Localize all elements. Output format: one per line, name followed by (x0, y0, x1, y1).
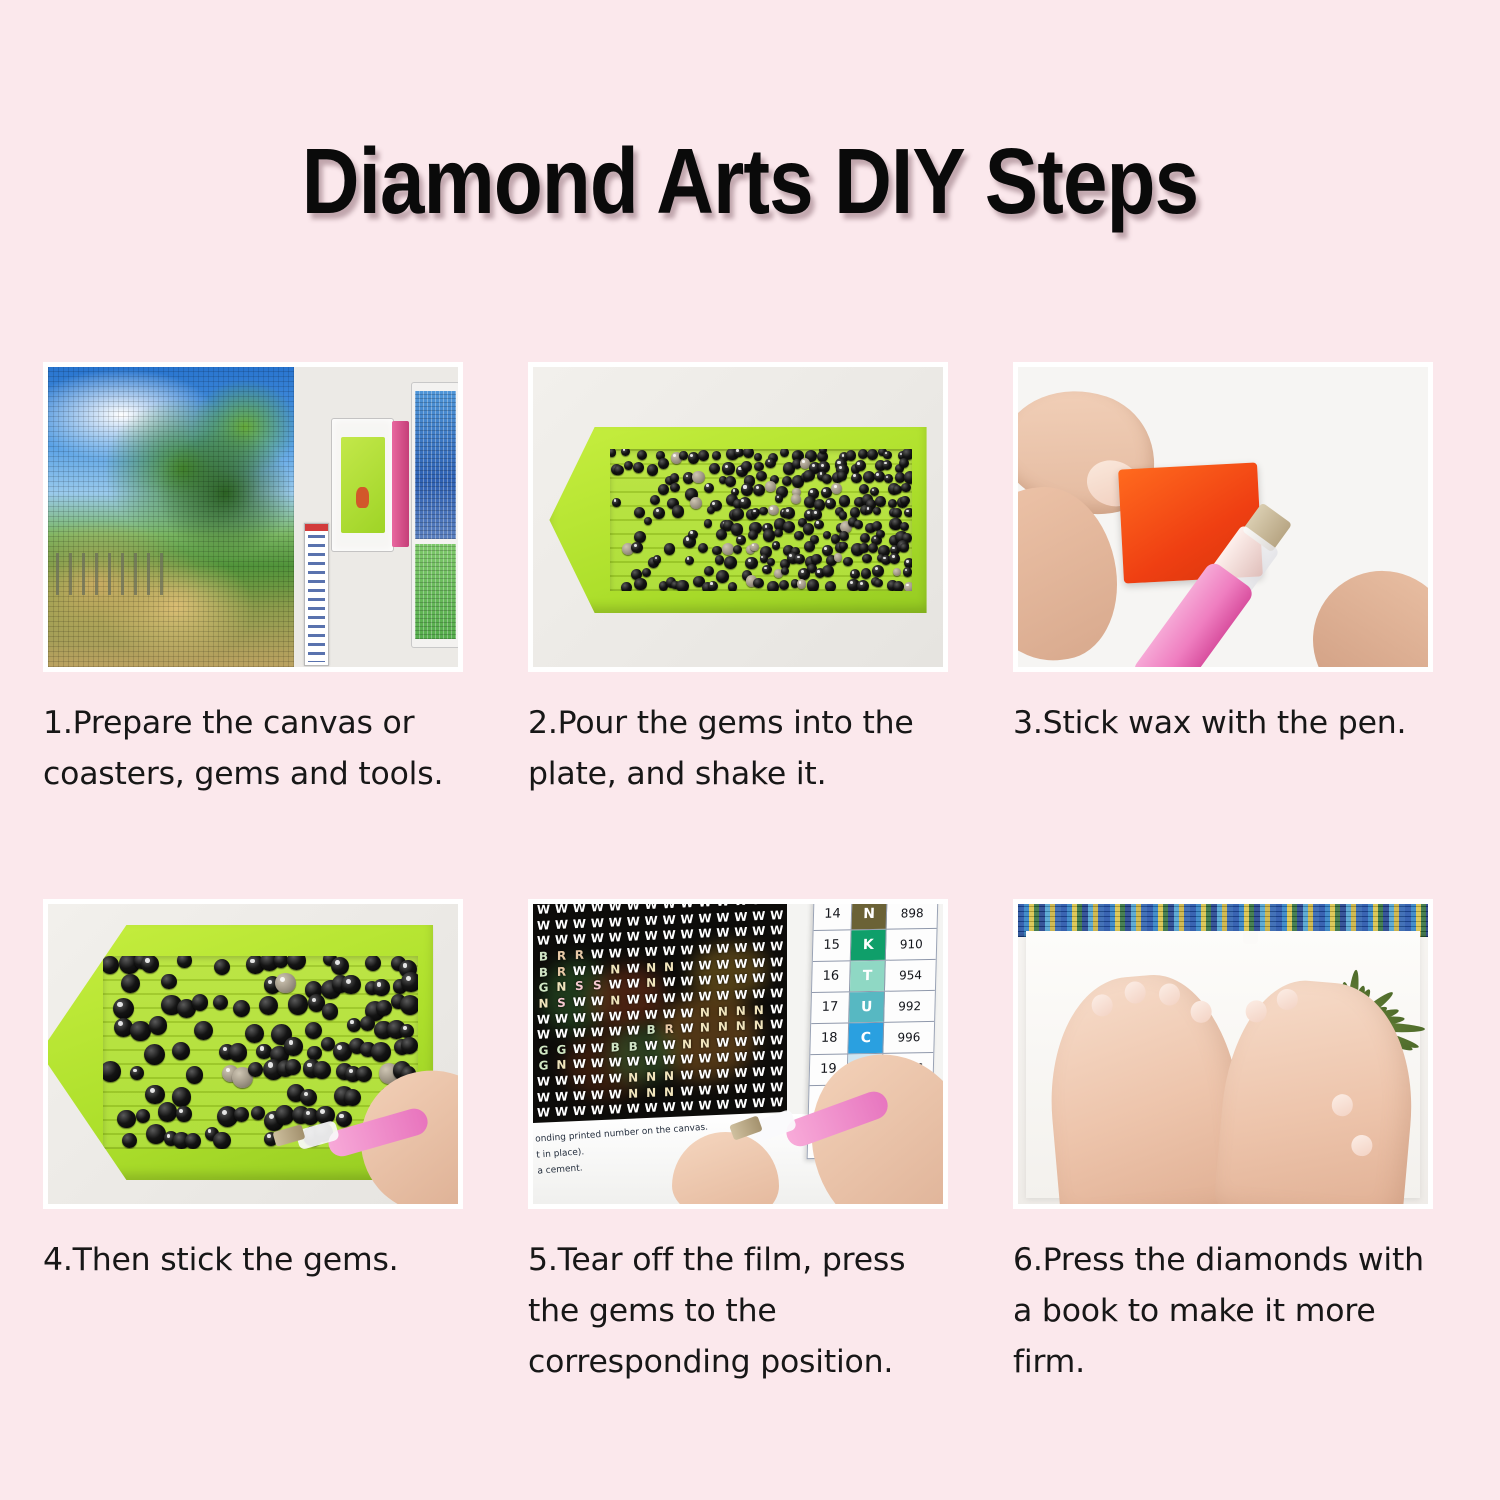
canvas-symbol: W (626, 946, 641, 962)
gem (716, 570, 729, 583)
gem (865, 506, 873, 514)
gem (854, 520, 863, 529)
gem (373, 979, 389, 995)
gem (884, 474, 893, 483)
gem (621, 449, 630, 455)
step-caption-5: 5.Tear off the film, press the gems to t… (528, 1235, 958, 1388)
canvas-symbol: W (697, 943, 712, 959)
canvas-symbol: N (626, 1071, 641, 1087)
gem (731, 523, 744, 536)
canvas-symbol: N (644, 1071, 659, 1087)
green-gem-packet (415, 544, 456, 639)
gem (670, 473, 680, 483)
ruler-strip (304, 523, 329, 666)
gem (176, 1106, 192, 1122)
gem (103, 956, 120, 974)
gem (670, 483, 680, 493)
gem (650, 495, 660, 505)
gem (791, 494, 801, 504)
canvas-symbol: W (733, 942, 748, 958)
gem (275, 973, 295, 993)
gem (664, 543, 675, 554)
gem (904, 508, 911, 518)
infographic-page: Diamond Arts DIY Steps 1.Prepare the can… (0, 0, 1500, 1500)
gem (251, 1106, 265, 1120)
step-caption-3: 3.Stick wax with the pen. (1013, 698, 1443, 749)
gem (624, 461, 633, 470)
canvas-symbol: W (769, 940, 784, 956)
legend-code: 992 (884, 991, 934, 1022)
gem (401, 1037, 418, 1054)
steps-grid: 1.Prepare the canvas or coasters, gems a… (0, 0, 1500, 1500)
legend-code: 910 (886, 929, 936, 960)
canvas-symbol: W (751, 988, 766, 1004)
gem (855, 460, 866, 471)
gem (804, 541, 815, 552)
gem (783, 521, 795, 533)
gem (782, 476, 792, 486)
canvas-symbol: W (644, 1102, 659, 1118)
canvas-symbol: W (572, 996, 587, 1012)
gem (644, 517, 653, 526)
gem (875, 496, 886, 507)
gem (794, 531, 804, 541)
gem (772, 541, 781, 550)
gem (767, 581, 779, 591)
gem (846, 450, 856, 460)
gem (288, 994, 309, 1015)
gem (658, 458, 669, 469)
gem (130, 1021, 150, 1041)
gem (679, 451, 687, 459)
gem (712, 546, 721, 555)
legend-code: 898 (887, 899, 937, 929)
step-card-1: 1.Prepare the canvas or coasters, gems a… (43, 362, 463, 800)
pen-picking-gem (286, 1084, 463, 1186)
gem (704, 566, 714, 576)
blue-gem-packet (415, 391, 456, 539)
step-card-3: 3.Stick wax with the pen. (1013, 362, 1433, 749)
gem (901, 483, 910, 492)
gem (307, 1046, 321, 1060)
gem (172, 1087, 191, 1106)
canvas-symbol: N (751, 1019, 766, 1035)
gem (762, 565, 771, 574)
legend-row: 18C996 (810, 1022, 934, 1055)
gem (194, 1021, 213, 1040)
finger-right (1300, 558, 1433, 672)
gem (839, 531, 850, 542)
gem (834, 553, 843, 562)
gem (122, 1133, 137, 1148)
gem (248, 1062, 264, 1078)
gem (371, 1042, 391, 1062)
canvas-symbol: W (572, 1074, 587, 1090)
gem (754, 462, 764, 472)
gem (172, 1042, 191, 1061)
canvas-symbol: W (715, 974, 730, 990)
gem (347, 1018, 361, 1032)
gem (756, 471, 767, 482)
gem (861, 568, 872, 579)
gem (213, 995, 228, 1010)
gem (401, 972, 417, 991)
legend-number: 14 (813, 899, 852, 930)
gem (882, 460, 892, 470)
gem (698, 543, 708, 553)
canvas-symbol: B (536, 950, 551, 966)
gem (754, 453, 762, 461)
canvas-symbol: W (662, 1101, 677, 1117)
page-side-text (1026, 1012, 1047, 1156)
canvas-symbol: W (626, 899, 641, 915)
step-card-6: 6.Press the diamonds with a book to make… (1013, 899, 1433, 1388)
gem (722, 462, 734, 474)
gem (637, 450, 647, 460)
step-caption-4: 4.Then stick the gems. (43, 1235, 473, 1286)
gem (825, 498, 836, 509)
canvas-symbol: W (733, 973, 748, 989)
gem (859, 484, 870, 495)
legend-number: 18 (810, 1023, 849, 1054)
gem (117, 1110, 135, 1128)
canvas-symbol: W (715, 1067, 730, 1083)
step-caption-2: 2.Pour the gems into the plate, and shak… (528, 698, 958, 800)
gem (145, 1085, 164, 1104)
gem (149, 1016, 168, 1035)
canvas-symbol: W (662, 899, 677, 914)
canvas-symbol: W (536, 1107, 551, 1123)
gem (803, 523, 814, 534)
canvas-symbol: N (536, 997, 551, 1013)
gem (768, 505, 778, 515)
gem-packets-bag (411, 382, 460, 648)
gem (822, 474, 833, 485)
pink-pen-packaged (392, 421, 408, 547)
gem (259, 996, 278, 1015)
gem (780, 449, 789, 457)
canvas-symbol: W (715, 942, 730, 958)
gem (850, 507, 861, 518)
step-card-4: 4.Then stick the gems. (43, 899, 463, 1286)
canvas-symbol: W (769, 987, 784, 1003)
canvas-symbol: G (536, 981, 551, 997)
canvas-symbol: W (608, 947, 623, 963)
gem (876, 530, 884, 538)
gem (868, 543, 878, 553)
canvas-symbol: W (608, 1072, 623, 1088)
canvas-symbol: N (662, 1070, 677, 1086)
tray-scene (533, 367, 943, 667)
canvas-symbol: N (733, 1020, 748, 1036)
gem (736, 535, 746, 545)
canvas-symbol: W (590, 1104, 605, 1120)
canvas-symbol: W (644, 992, 659, 1008)
legend-symbol: C (848, 1022, 884, 1053)
gem (634, 578, 646, 590)
legend-symbol: K (850, 930, 886, 961)
gem (843, 557, 852, 566)
gem (779, 580, 790, 591)
canvas-symbol: W (536, 1075, 551, 1091)
gem (725, 476, 736, 487)
canvas-symbol: W (554, 1074, 569, 1090)
gem (724, 556, 737, 569)
gem (708, 581, 718, 591)
canvas-symbol: R (662, 1023, 677, 1039)
legend-code: 996 (883, 1022, 933, 1053)
gem (733, 545, 742, 554)
gem (614, 465, 625, 476)
gem (685, 556, 695, 566)
canvas-symbol: W (554, 1028, 569, 1044)
legend-number: 17 (811, 992, 850, 1023)
gem (672, 505, 684, 517)
gem (214, 959, 230, 975)
canvas-symbol: W (608, 900, 623, 916)
gem (900, 522, 909, 531)
canvas-symbol: W (626, 978, 641, 994)
gem (400, 1024, 414, 1038)
gem (305, 1022, 322, 1039)
canvas-symbol: W (536, 934, 551, 950)
legend-number: 16 (812, 961, 851, 992)
gem (807, 579, 820, 590)
gem (356, 1066, 373, 1083)
canvas-symbol: S (590, 979, 605, 995)
gem (839, 495, 851, 507)
gem (839, 511, 847, 519)
gem (136, 1109, 150, 1123)
canvas-symbol: W (697, 974, 712, 990)
step-caption-6: 6.Press the diamonds with a book to make… (1013, 1235, 1443, 1388)
gem (285, 1059, 301, 1075)
legend-symbol: T (850, 961, 886, 992)
gem (186, 1066, 204, 1084)
gem (867, 449, 878, 460)
gem (704, 519, 713, 528)
step-caption-1: 1.Prepare the canvas or coasters, gems a… (43, 698, 473, 800)
canvas-symbol: W (662, 976, 677, 992)
fingernail (1091, 993, 1114, 1017)
canvas-symbol: W (554, 902, 569, 918)
gem (716, 529, 727, 540)
gem (146, 1124, 167, 1145)
canvas-symbol: W (626, 993, 641, 1009)
canvas-symbol: W (697, 1100, 712, 1116)
tray-scene-closeup (48, 904, 458, 1204)
gem (775, 494, 784, 503)
canvas-symbol: R (572, 949, 587, 965)
gem (234, 1107, 249, 1122)
gem (229, 1043, 247, 1061)
gem (103, 1061, 121, 1082)
legend-code: 954 (885, 960, 935, 991)
gem (732, 508, 744, 520)
gem (130, 1066, 144, 1080)
gem (831, 483, 842, 494)
tray-well (610, 449, 912, 590)
gem (750, 543, 759, 552)
gem (794, 554, 805, 565)
gem (765, 481, 776, 492)
gem (658, 484, 669, 495)
legend-symbol: N (851, 899, 887, 929)
canvas-symbol: W (590, 1026, 605, 1042)
gem (892, 508, 902, 518)
gem (753, 484, 765, 496)
canvas-symbol: W (626, 1024, 641, 1040)
canvas-symbol: S (554, 996, 569, 1012)
canvas-symbol: N (697, 1021, 712, 1037)
gem (893, 568, 901, 576)
canvas-symbol: N (644, 977, 659, 993)
gem (365, 956, 381, 971)
gem (811, 554, 822, 565)
gem (647, 464, 658, 475)
gem (803, 470, 815, 482)
gem (633, 462, 644, 473)
gem (893, 581, 904, 591)
canvas-symbol: W (662, 1054, 677, 1070)
canvas-symbol: W (536, 903, 551, 919)
canvas-symbol: W (769, 1018, 784, 1034)
gem (759, 507, 767, 515)
canvas-symbol: R (554, 949, 569, 965)
gem (715, 555, 725, 565)
canvas-symbol: W (751, 972, 766, 988)
gem (765, 458, 776, 469)
gem (821, 487, 832, 498)
canvas-symbol: W (680, 944, 695, 960)
legend-row: 15K910 (813, 929, 937, 962)
canvas-symbol: N (554, 981, 569, 997)
canvas-symbol: W (715, 1099, 730, 1115)
gem (822, 565, 834, 577)
fingernail (1276, 988, 1299, 1011)
fingernail (1350, 1134, 1373, 1157)
gem (753, 578, 764, 589)
canvas-symbol: W (662, 945, 677, 961)
canvas-symbol: W (608, 1025, 623, 1041)
canvas-symbol: W (715, 989, 730, 1005)
gem (873, 507, 882, 516)
canvas-symbol: W (554, 934, 569, 950)
gem (158, 1102, 178, 1122)
canvas-symbol: W (644, 945, 659, 961)
gem (688, 530, 698, 540)
gem (653, 507, 665, 519)
gem (376, 1000, 392, 1016)
canvas-symbol: W (626, 1056, 641, 1072)
canvas-symbol: W (680, 975, 695, 991)
gem (745, 557, 757, 569)
gem (904, 582, 912, 591)
legend-symbol: U (849, 992, 885, 1023)
gem (284, 1037, 303, 1056)
canvas-symbol: W (572, 902, 587, 918)
canvas-symbol: W (680, 991, 695, 1007)
canvas-symbol: W (590, 948, 605, 964)
gem (860, 533, 870, 543)
gem (814, 520, 824, 530)
gem (631, 542, 642, 553)
gem (707, 506, 716, 515)
gem (872, 565, 884, 577)
gem (213, 1132, 231, 1150)
black-gem-field (610, 449, 912, 590)
gem (610, 449, 616, 456)
canvas-symbol: W (733, 988, 748, 1004)
gem (331, 957, 349, 975)
wax-and-pen-photo (1013, 362, 1433, 672)
gem (121, 974, 140, 993)
wax-block (341, 437, 385, 532)
gem (741, 461, 752, 472)
step-card-5: WWWWWWWWWWWWWWWWWWWWWWWWWWWWWWWWWWWWWWWW… (528, 899, 948, 1388)
gem (748, 530, 758, 540)
gem (113, 998, 134, 1019)
gem (797, 579, 806, 588)
fingernail (1331, 1094, 1354, 1117)
canvas-symbol: W (644, 899, 659, 915)
legend-row: 16T954 (812, 960, 936, 993)
gem (621, 582, 632, 591)
gem (185, 1133, 201, 1149)
gem (783, 507, 795, 519)
gem (698, 450, 709, 461)
gem (141, 956, 159, 973)
gem (245, 1024, 264, 1043)
gems-in-tray-photo (528, 362, 948, 672)
gem (634, 507, 645, 518)
gem (857, 580, 869, 591)
gem (676, 580, 689, 591)
canvas-symbol: W (769, 971, 784, 987)
gem (900, 496, 909, 505)
canvas-symbol: S (572, 980, 587, 996)
gem (850, 569, 860, 579)
gem (692, 471, 704, 483)
gem (851, 473, 862, 484)
gem (704, 483, 715, 494)
fingernail (1158, 982, 1181, 1006)
legend-number: 15 (813, 930, 852, 961)
gem (862, 554, 871, 563)
fingernail (1245, 999, 1268, 1022)
gem (709, 463, 720, 474)
canvas-symbol: W (590, 995, 605, 1011)
gem (161, 974, 177, 990)
canvas-symbol: W (680, 1100, 695, 1116)
canvas-symbol: W (554, 1106, 569, 1122)
canvas-symbol: W (590, 1073, 605, 1089)
gem (341, 975, 360, 994)
gem (233, 1000, 250, 1017)
canvas-symbol: W (751, 941, 766, 957)
canvas-symbol: W (662, 992, 677, 1008)
gem (739, 497, 751, 509)
picking-gems-photo (43, 899, 463, 1209)
wax-bag (331, 418, 395, 552)
legend-row: 17U992 (811, 991, 935, 1024)
canvas-symbol: W (608, 1103, 623, 1119)
canvas-symbol: B (644, 1024, 659, 1040)
canvas-symbol: W (680, 1069, 695, 1085)
landscape-canvas-image (48, 367, 294, 667)
gem (889, 553, 900, 564)
gem (400, 995, 418, 1016)
